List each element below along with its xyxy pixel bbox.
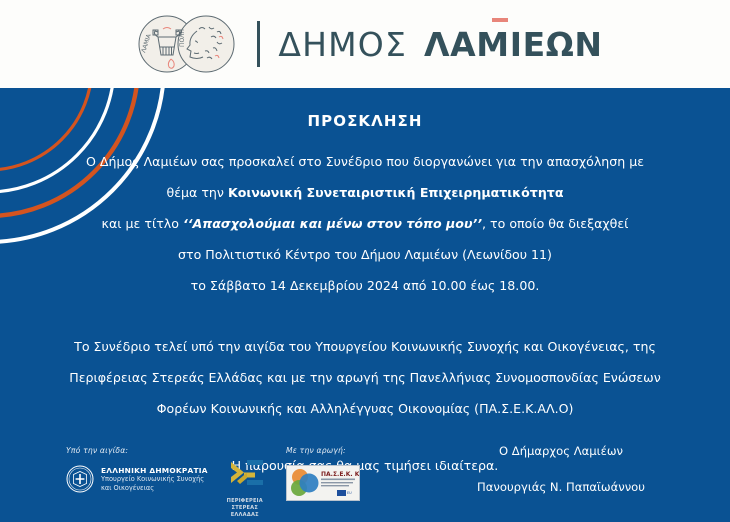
auspices-line-2-text: Περιφέρειας Στερεάς Ελλάδας και με την α… [69,370,661,385]
mayor-name: Πανουργιάς Ν. Παπαϊωάννου [436,480,686,494]
hellenic-republic-text: ΕΛΛΗΝΙΚΗ ΔΗΜΟΚΡΑΤΙΑ Υπουργείο Κοινωνικής… [101,466,208,492]
hellenic-republic-emblem [66,465,94,493]
invitation-body: ΠΡΟΣΚΛΗΣΗ Ο Δήμος Λαμιέων σας προσκαλεί … [0,88,730,481]
region-label: ΠΕΡΙΦΕΡΕΙΑ ΣΤΕΡΕΑΣ ΕΛΛΑΔΑΣ [224,498,266,519]
auspices-line-3-text: Φορέων Κοινωνικής και Αλληλέγγυας Οικονο… [157,401,574,416]
invitation-poster: ΛΑΜΙΑ ΠΟΛΗ ΔΗΜΟΣ ΛΑΜΙΕΩΝ ΠΡΟΣΚΛΗΣΗ Ο Δήμ… [0,0,730,522]
svg-text:ΠΟΛΗ: ΠΟΛΗ [179,29,186,47]
auspices-line-1-text: Το Συνέδριο τελεί υπό την αιγίδα του Υπο… [74,339,656,354]
page-title: ΠΡΟΣΚΛΗΣΗ [0,112,730,130]
venue-line: στο Πολιτιστικό Κέντρο του Δήμου Λαμιέων… [0,239,730,270]
event-title: ‘‘Απασχολούμαι και μένω στον τόπο μου’’ [183,216,482,231]
region-label-line-1: ΠΕΡΙΦΕΡΕΙΑ [224,498,266,505]
hellenic-republic-title: ΕΛΛΗΝΙΚΗ ΔΗΜΟΚΡΑΤΙΑ [101,466,208,475]
intro-line-2: θέμα την Κοινωνική Συνεταιριστική Επιχει… [0,177,730,208]
aegis-group: Υπό την αιγίδα: ΕΛΛΗΝΙΚΗ ΔΗΜΟΚΡΑΤΙΑ Υπου… [66,446,286,519]
svg-text:EU: EU [347,491,352,495]
region-label-line-2: ΣΤΕΡΕΑΣ [224,505,266,512]
wordmark-accent-bar [492,18,508,22]
mayor-signature-block: Ο Δήμαρχος Λαμιέων Πανουργιάς Ν. Παπαϊωά… [436,444,686,494]
intro-block: Ο Δήμος Λαμιέων σας προσκαλεί στο Συνέδρ… [0,146,730,301]
pasekalo-emblem: ΠΑ.Σ.Ε.Κ. ΚΑΛ.Ο. EU [287,466,359,500]
dimos-lamieon-emblem: ΛΑΜΙΑ ΠΟΛΗ [127,13,247,75]
venue-text: στο Πολιτιστικό Κέντρο του Δήμου Λαμιέων… [178,247,552,262]
intro-line-1-text: Ο Δήμος Λαμιέων σας προσκαλεί στο Συνέδρ… [86,154,644,169]
aegis-caption: Υπό την αιγίδα: [66,446,286,455]
datetime-line: το Σάββατο 14 Δεκεμβρίου 2024 από 10.00 … [0,270,730,301]
intro-line-1: Ο Δήμος Λαμιέων σας προσκαλεί στο Συνέδρ… [0,146,730,177]
ministry-line-1: Υπουργείο Κοινωνικής Συνοχής [101,475,208,483]
auspices-line-2: Περιφέρειας Στερεάς Ελλάδας και με την α… [0,362,730,393]
wordmark-lamieon-text: ΛΑΜΙΕΩΝ [424,25,603,64]
auspices-line-1: Το Συνέδριο τελεί υπό την αιγίδα του Υπο… [0,331,730,362]
title-suffix: , το οποίο θα διεξαχθεί [482,216,628,231]
support-group: Με την αρωγή: ΠΑ.Σ.Ε.Κ. ΚΑΛ.Ο. EU [286,446,416,501]
wordmark-lamieon: ΛΑΜΙΕΩΝ [424,25,603,64]
ministry-line-2: και Οικογένειας [101,484,208,492]
hellenic-republic-logo: ΕΛΛΗΝΙΚΗ ΔΗΜΟΚΡΑΤΙΑ Υπουργείο Κοινωνικής… [66,465,208,493]
datetime-text: το Σάββατο 14 Δεκεμβρίου 2024 από 10.00 … [191,278,540,293]
intro-line-3: και με τίτλο ‘‘Απασχολούμαι και μένω στο… [0,208,730,239]
pasekalo-logo: ΠΑ.Σ.Ε.Κ. ΚΑΛ.Ο. EU [286,465,360,501]
auspices-block: Το Συνέδριο τελεί υπό την αιγίδα του Υπο… [0,331,730,424]
pasekalo-title: ΠΑ.Σ.Ε.Κ. ΚΑΛ.Ο. [321,471,359,478]
brand-divider [257,21,260,67]
brand-lockup: ΛΑΜΙΑ ΠΟΛΗ ΔΗΜΟΣ ΛΑΜΙΕΩΝ [127,13,602,75]
region-label-line-3: ΕΛΛΑΔΑΣ [224,512,266,519]
auspices-line-3: Φορέων Κοινωνικής και Αλληλέγγυας Οικονο… [0,393,730,424]
theme-label: θέμα την [167,185,228,200]
header-band: ΛΑΜΙΑ ΠΟΛΗ ΔΗΜΟΣ ΛΑΜΙΕΩΝ [0,0,730,88]
wordmark-dimos: ΔΗΜΟΣ [278,25,407,64]
region-arrow-icon [225,459,265,493]
support-caption: Με την αρωγή: [286,446,416,455]
title-label: και με τίτλο [102,216,183,231]
brand-wordmark: ΔΗΜΟΣ ΛΑΜΙΕΩΝ [278,25,602,64]
theme-value: Κοινωνική Συνεταιριστική Επιχειρηματικότ… [228,185,564,200]
footer: Υπό την αιγίδα: ΕΛΛΗΝΙΚΗ ΔΗΜΟΚΡΑΤΙΑ Υπου… [0,440,730,522]
aegis-logos: ΕΛΛΗΝΙΚΗ ΔΗΜΟΚΡΑΤΙΑ Υπουργείο Κοινωνικής… [66,465,286,519]
mayor-role: Ο Δήμαρχος Λαμιέων [436,444,686,458]
region-sterea-ellada-logo: ΠΕΡΙΦΕΡΕΙΑ ΣΤΕΡΕΑΣ ΕΛΛΑΔΑΣ [224,459,266,519]
